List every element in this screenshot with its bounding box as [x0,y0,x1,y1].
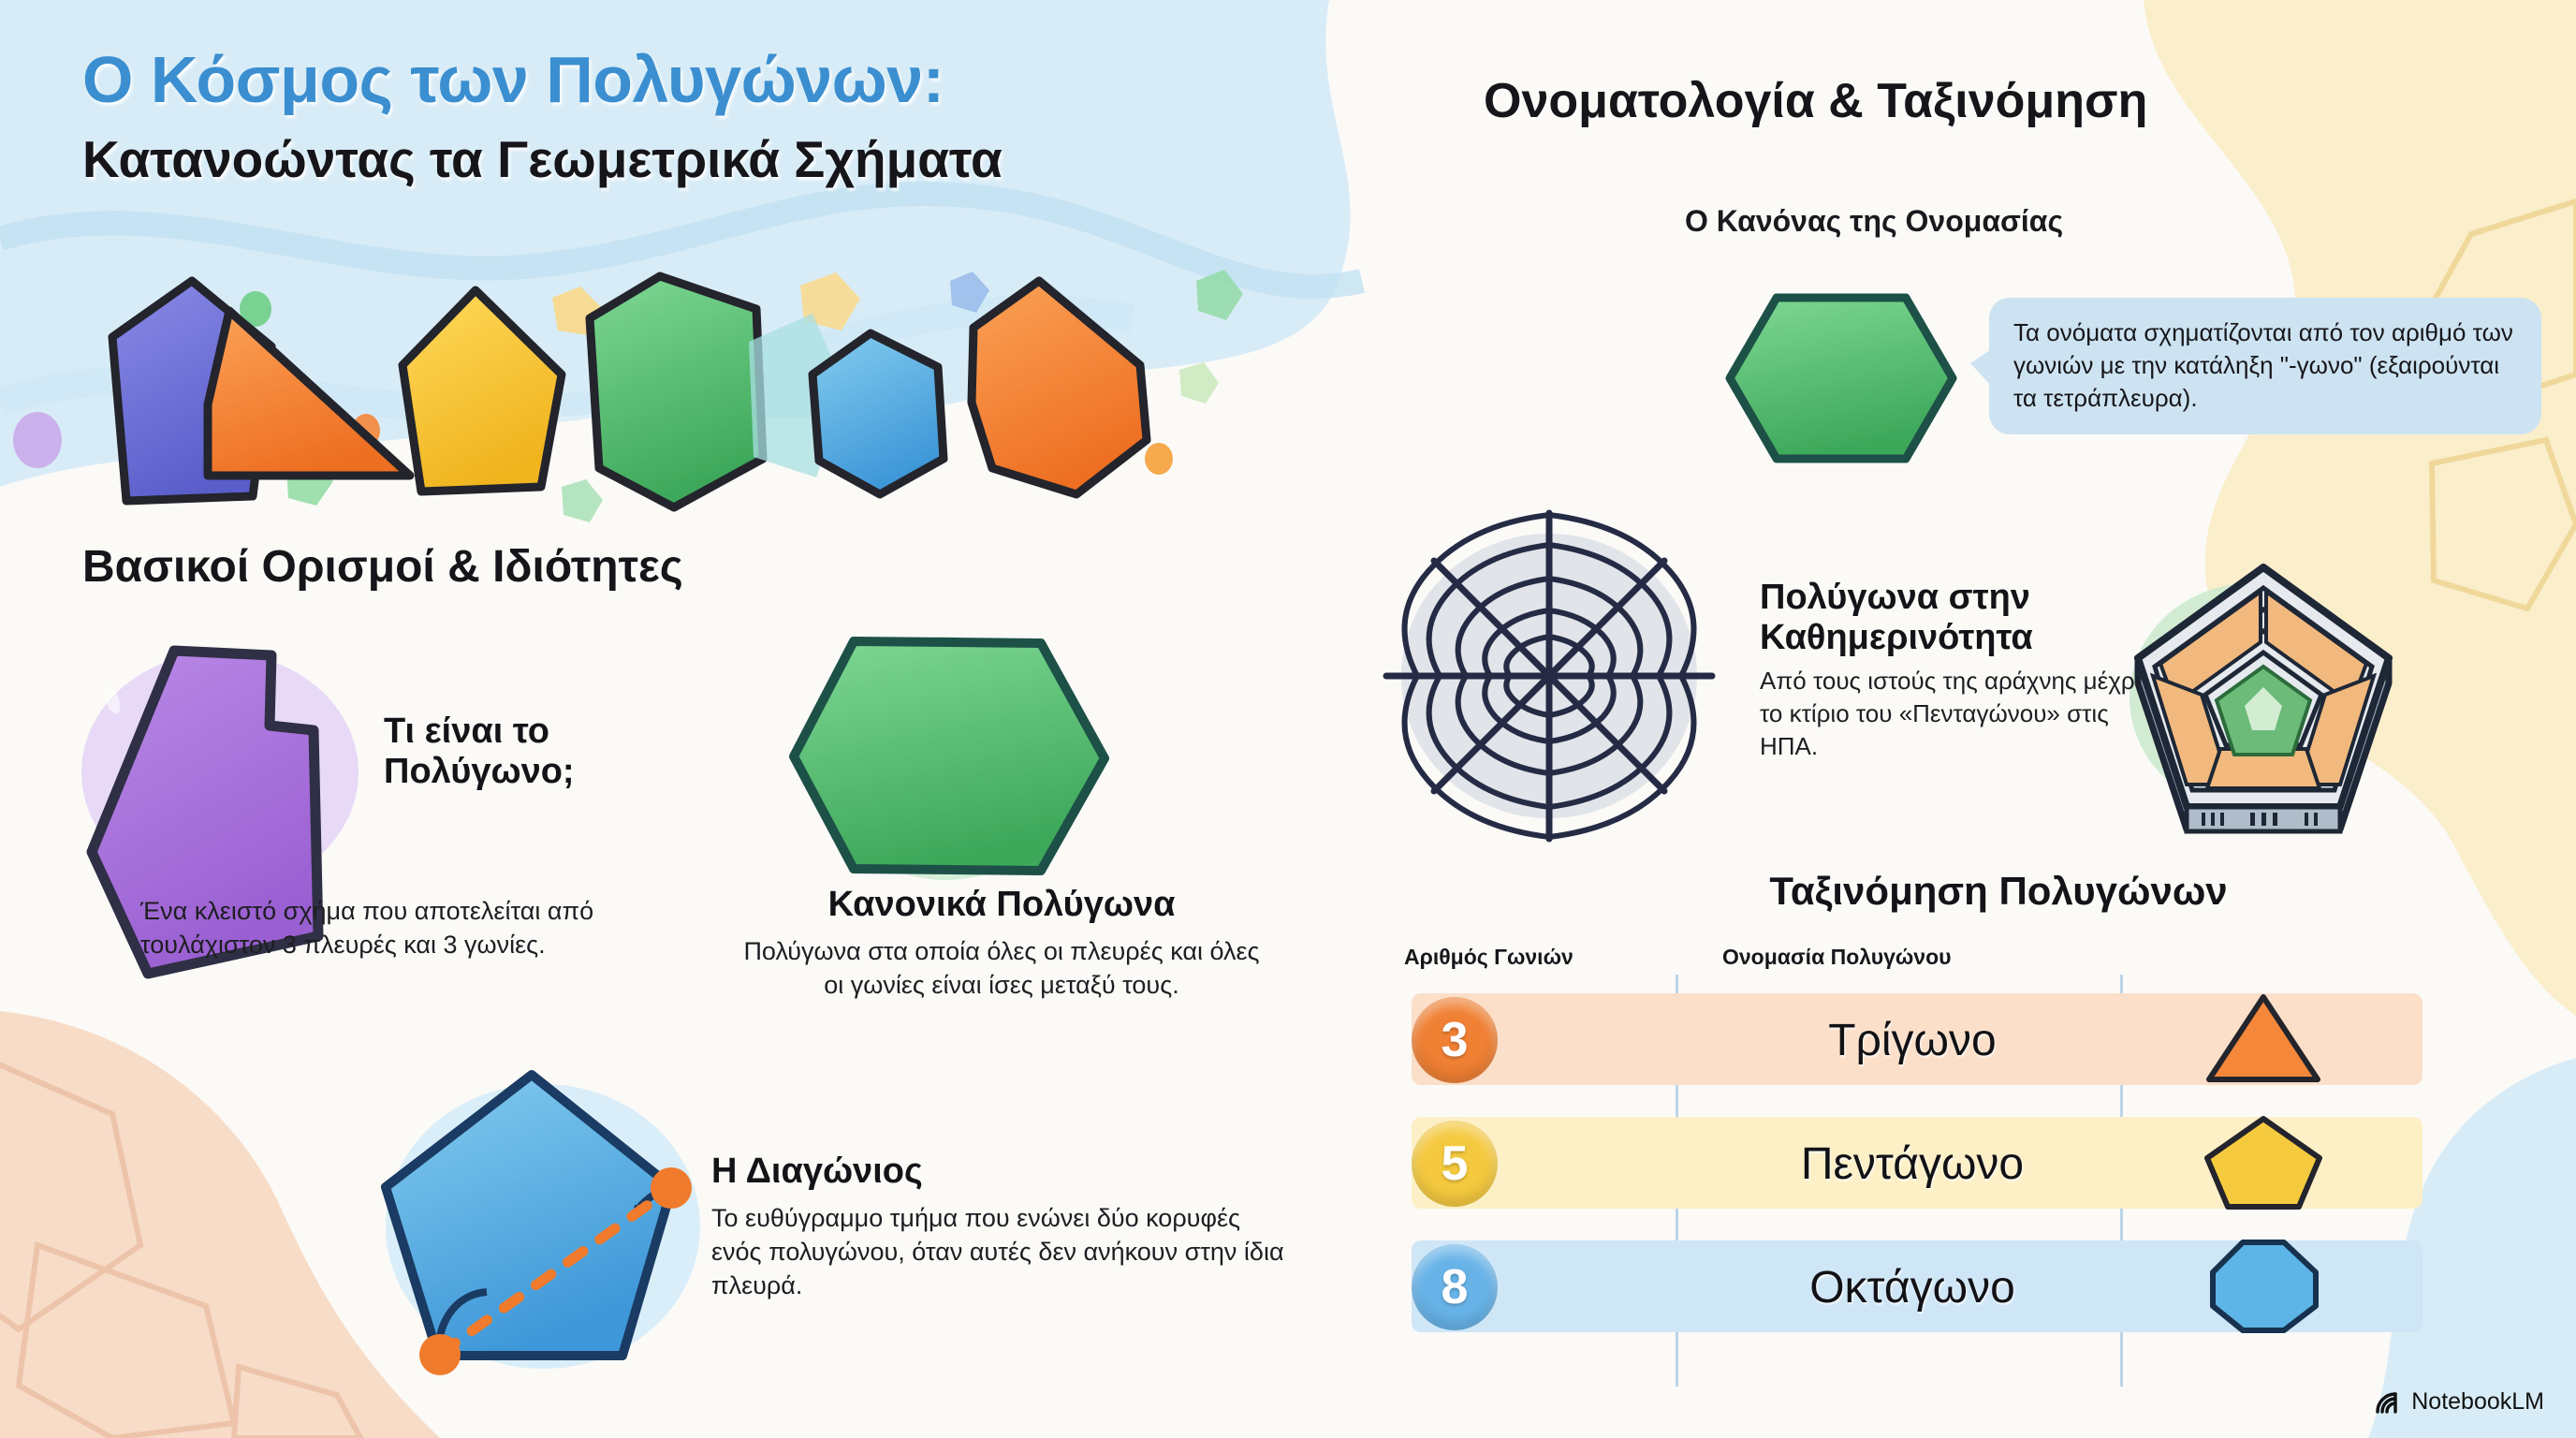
section-heading-classification: Ταξινόμηση Πολυγώνων [1671,869,2326,914]
hero-shape-pentagon-purple [112,281,271,501]
column-header-polygon-name: Ονομασία Πολυγώνου [1722,945,1952,970]
polygon-name-label: Οκτάγωνο [1692,1240,2132,1334]
regular-title: Κανονικά Πολύγωνα [739,885,1264,925]
table-row[interactable]: 5Πεντάγωνο [1412,1117,2422,1209]
polygon-name-label: Τρίγωνο [1692,993,2132,1087]
illustration-pentagon-building [2130,567,2389,831]
confetti-poly-6 [1179,362,1219,404]
angle-count-badge: 3 [1412,997,1498,1083]
bubble-tail-icon [1970,348,1993,388]
table-row[interactable]: 8Οκτάγωνο [1412,1240,2422,1332]
naming-rule-text: Τα ονόματα σχηματίζονται από τον αριθμό … [2013,316,2517,414]
confetti-poly-7 [800,272,860,330]
page-title: Ο Κόσμος των Πολυγώνων: [82,42,1393,117]
what-is-body-wrap: Ένα κλειστό σχήμα που αποτελείται από το… [140,894,627,961]
confetti-poly-3 [562,479,603,522]
column-header-angle-count: Αριθμός Γωνιών [1404,945,1573,970]
what-is-title: Τι είναι το Πολύγωνο; [384,712,702,791]
blob-peach-bottom-left [0,1011,440,1438]
outline-polygon-peach-3 [234,1367,360,1438]
subheading-naming-rule: Ο Κανόνας της Ονομασίας [1685,204,2434,239]
section-heading-definitions: Βασικοί Ορισμοί & Ιδιότητες [82,541,1112,593]
card-diagonal: Η Διαγώνιος Το ευθύγραμμο τμήμα που ενών… [711,1152,1292,1302]
notebooklm-watermark: NotebookLM [2374,1388,2544,1416]
card-everyday-polygons: Πολύγωνα στην Καθημερινότητα Από τους ισ… [1760,578,2153,763]
illustration-spider-web [1386,513,1712,839]
confetti-poly-2 [286,459,333,506]
table-row[interactable]: 3Τρίγωνο [1412,993,2422,1085]
hero-shape-pentagon-yellow [402,290,562,492]
vertex-dot-b [651,1167,692,1209]
outline-polygon-cream-2 [2432,440,2576,609]
confetti-dot-3 [352,414,380,448]
hero-shape-triangle-orange [208,311,410,476]
illustration-diagonal-pentagon [386,1075,700,1375]
confetti-poly-1 [552,286,601,335]
illustration-green-hexagon-naming [1730,298,1953,459]
angle-arc-1 [438,1292,487,1356]
card-regular-polygons: Κανονικά Πολύγωνα Πολύγωνα στα οποία όλε… [739,885,1264,1002]
blob-cream-top-right [2144,0,2576,1016]
card-what-is-polygon: Τι είναι το Πολύγωνο; [384,712,702,791]
hero-shape-heptagon-orange [972,281,1147,494]
vertex-dot-a [419,1334,461,1375]
polygon-shape-triangle-icon [2198,990,2329,1089]
confetti-dot-4 [1145,443,1173,475]
outline-polygon-peach-1 [0,1049,140,1329]
hero-shape-hexagon-green [590,276,763,507]
what-is-body: Ένα κλειστό σχήμα που αποτελείται από το… [140,894,627,961]
swoosh-1 [0,194,1362,286]
confetti-poly-4 [950,271,989,313]
diagonal-dashed-line [440,1189,670,1354]
everyday-body: Από τους ιστούς της αράχνης μέχρι το κτί… [1760,665,2153,762]
diagonal-body: Το ευθύγραμμο τμήμα που ενώνει δύο κορυφ… [711,1201,1292,1303]
confetti-dot-2 [240,291,271,327]
polygon-shape-pentagon-icon [2198,1113,2329,1212]
swoosh-2 [0,309,1133,411]
section-heading-naming: Ονοματολογία & Ταξινόμηση [1484,73,2513,129]
polygon-name-label: Πεντάγωνο [1692,1117,2132,1211]
angle-arc-2 [637,1187,672,1209]
angle-count-badge: 8 [1412,1244,1498,1330]
everyday-title: Πολύγωνα στην Καθημερινότητα [1760,578,2153,657]
confetti-poly-5 [1196,270,1243,320]
watermark-label: NotebookLM [2411,1388,2544,1416]
hero-shape-pentagon-teal-faded [749,314,847,477]
classification-table: Αριθμός Γωνιών Ονομασία Πολυγώνου 3Τρίγω… [1376,941,2509,1390]
confetti-dot-1 [13,412,62,468]
naming-rule-speech-bubble: Τα ονόματα σχηματίζονται από τον αριθμό … [1989,298,2541,434]
angle-count-badge: 5 [1412,1121,1498,1207]
regular-body: Πολύγωνα στα οποία όλες οι πλευρές και ό… [739,934,1264,1002]
infographic-canvas: Ο Κόσμος των Πολυγώνων: Κατανοώντας τα Γ… [0,0,2576,1438]
notebooklm-logo-icon [2374,1390,2402,1415]
page-subtitle: Κατανοώντας τα Γεωμετρικά Σχήματα [82,129,1393,189]
polygon-shape-octagon-icon [2198,1237,2329,1336]
diagonal-title: Η Διαγώνιος [711,1152,1292,1192]
hero-shape-hexagon-blue [812,333,944,494]
illustration-green-hexagon-regular [794,637,1105,880]
outline-polygon-peach-2 [19,1245,234,1438]
